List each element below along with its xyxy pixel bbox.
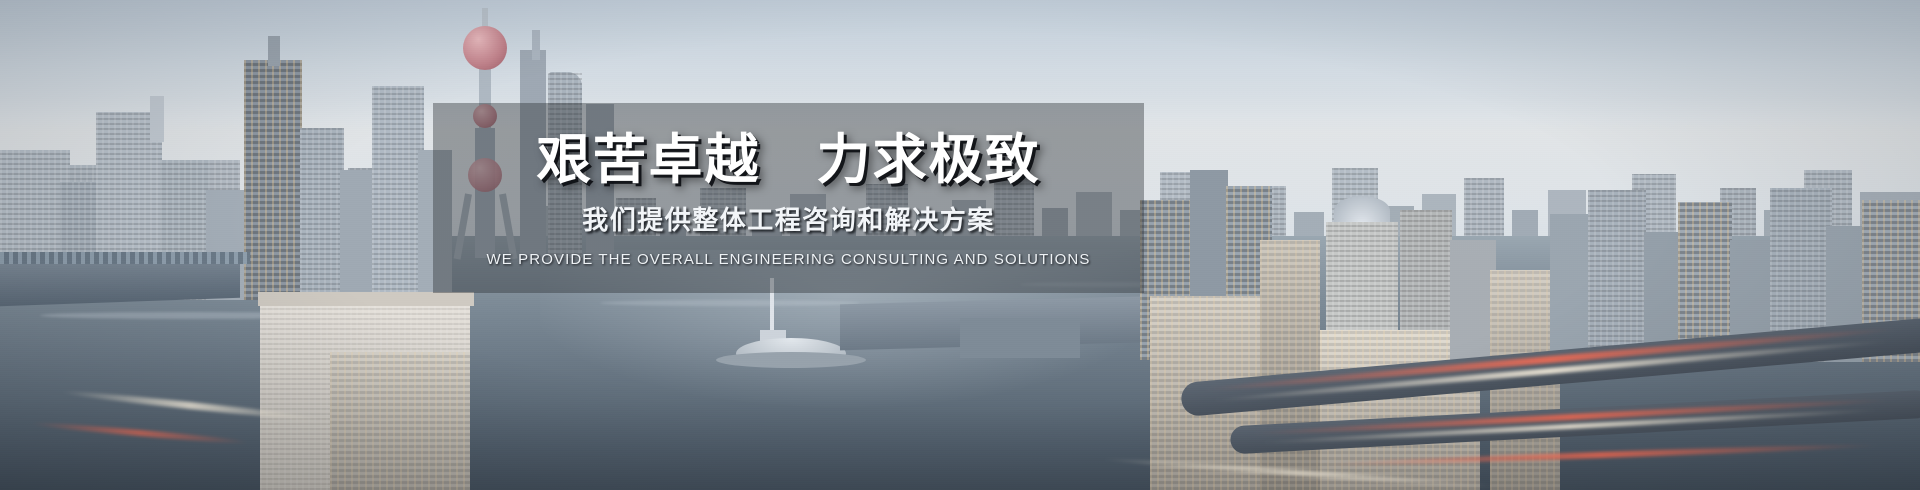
hero-english-tagline: WE PROVIDE THE OVERALL ENGINEERING CONSU… [487, 251, 1091, 269]
hero-headline: 艰苦卓越 力求极致 [537, 129, 1041, 189]
hero-subheadline: 我们提供整体工程咨询和解决方案 [582, 205, 995, 237]
hero-text-block: 艰苦卓越 力求极致 我们提供整体工程咨询和解决方案 WE PROVIDE THE… [433, 103, 1144, 293]
hero-banner: 艰苦卓越 力求极致 我们提供整体工程咨询和解决方案 WE PROVIDE THE… [0, 0, 1920, 490]
